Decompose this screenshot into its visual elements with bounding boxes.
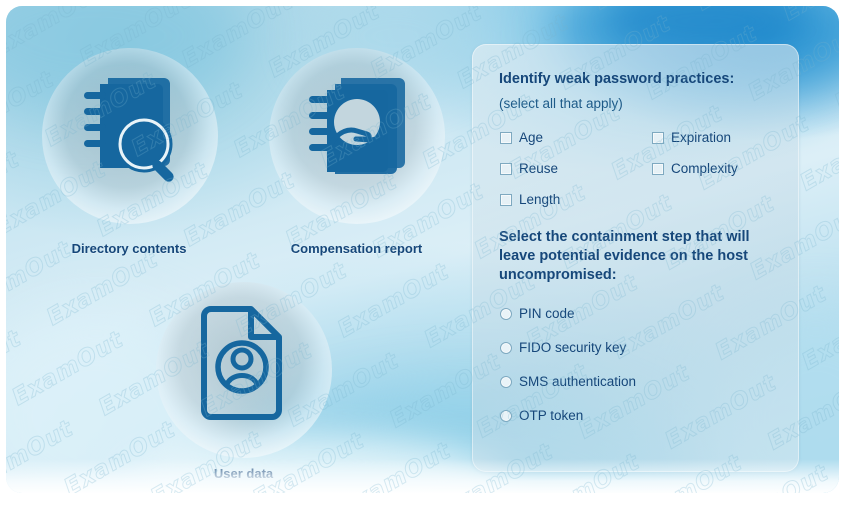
option-tile-directory-contents[interactable]: Directory contents [34, 48, 224, 268]
exam-question-card: Directory contents [6, 6, 839, 493]
checkbox-label: Complexity [671, 161, 738, 176]
checkbox-option-expiration[interactable]: Expiration [652, 130, 731, 145]
radio-icon[interactable] [500, 308, 512, 320]
checkbox-option-length[interactable]: Length [500, 192, 560, 207]
option-tile-compensation-report[interactable]: Compensation report [259, 48, 454, 268]
tile-label: Compensation report [259, 241, 454, 256]
notebook-search-icon [72, 68, 188, 189]
checkbox-icon[interactable] [652, 132, 664, 144]
checkbox-icon[interactable] [500, 132, 512, 144]
checkbox-option-reuse[interactable]: Reuse [500, 161, 558, 176]
checkbox-icon[interactable] [652, 163, 664, 175]
checkbox-label: Length [519, 192, 560, 207]
checkbox-icon[interactable] [500, 163, 512, 175]
radio-option-pin-code[interactable]: PIN code [500, 306, 575, 321]
option-tile-user-data[interactable]: User data [146, 282, 341, 487]
checkbox-option-age[interactable]: Age [500, 130, 543, 145]
question1-subtext: (select all that apply) [499, 96, 623, 111]
radio-option-otp-token[interactable]: OTP token [500, 408, 583, 423]
tile-label: User data [146, 466, 341, 481]
checkbox-icon[interactable] [500, 194, 512, 206]
question2-heading: Select the containment step that will le… [499, 228, 787, 285]
document-user-icon [194, 304, 294, 427]
radio-label: SMS authentication [519, 374, 636, 389]
radio-icon[interactable] [500, 342, 512, 354]
radio-option-sms-authentication[interactable]: SMS authentication [500, 374, 636, 389]
checkbox-label: Expiration [671, 130, 731, 145]
question-panel: Identify weak password practices: (selec… [472, 44, 799, 472]
question1-heading: Identify weak password practices: [499, 70, 787, 89]
radio-icon[interactable] [500, 376, 512, 388]
tile-label: Directory contents [34, 241, 224, 256]
notebook-hand-coin-icon [301, 70, 413, 187]
radio-label: PIN code [519, 306, 575, 321]
screenshot-root: Directory contents [0, 0, 845, 507]
checkbox-label: Reuse [519, 161, 558, 176]
checkbox-option-complexity[interactable]: Complexity [652, 161, 738, 176]
radio-icon[interactable] [500, 410, 512, 422]
radio-option-fido-security-key[interactable]: FIDO security key [500, 340, 626, 355]
checkbox-label: Age [519, 130, 543, 145]
radio-label: OTP token [519, 408, 583, 423]
radio-label: FIDO security key [519, 340, 626, 355]
